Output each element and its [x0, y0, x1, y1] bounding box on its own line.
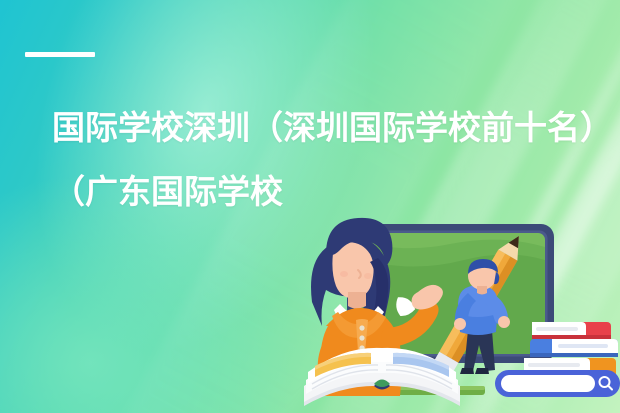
education-illustration [282, 200, 620, 413]
cover-image: 国际学校深圳（深圳国际学校前十名）（广东国际学校 [0, 0, 620, 413]
book-blue [530, 339, 618, 357]
accent-rule [25, 52, 95, 57]
search-bar[interactable] [495, 370, 620, 397]
book-stack [524, 322, 618, 378]
book-red [532, 322, 611, 339]
